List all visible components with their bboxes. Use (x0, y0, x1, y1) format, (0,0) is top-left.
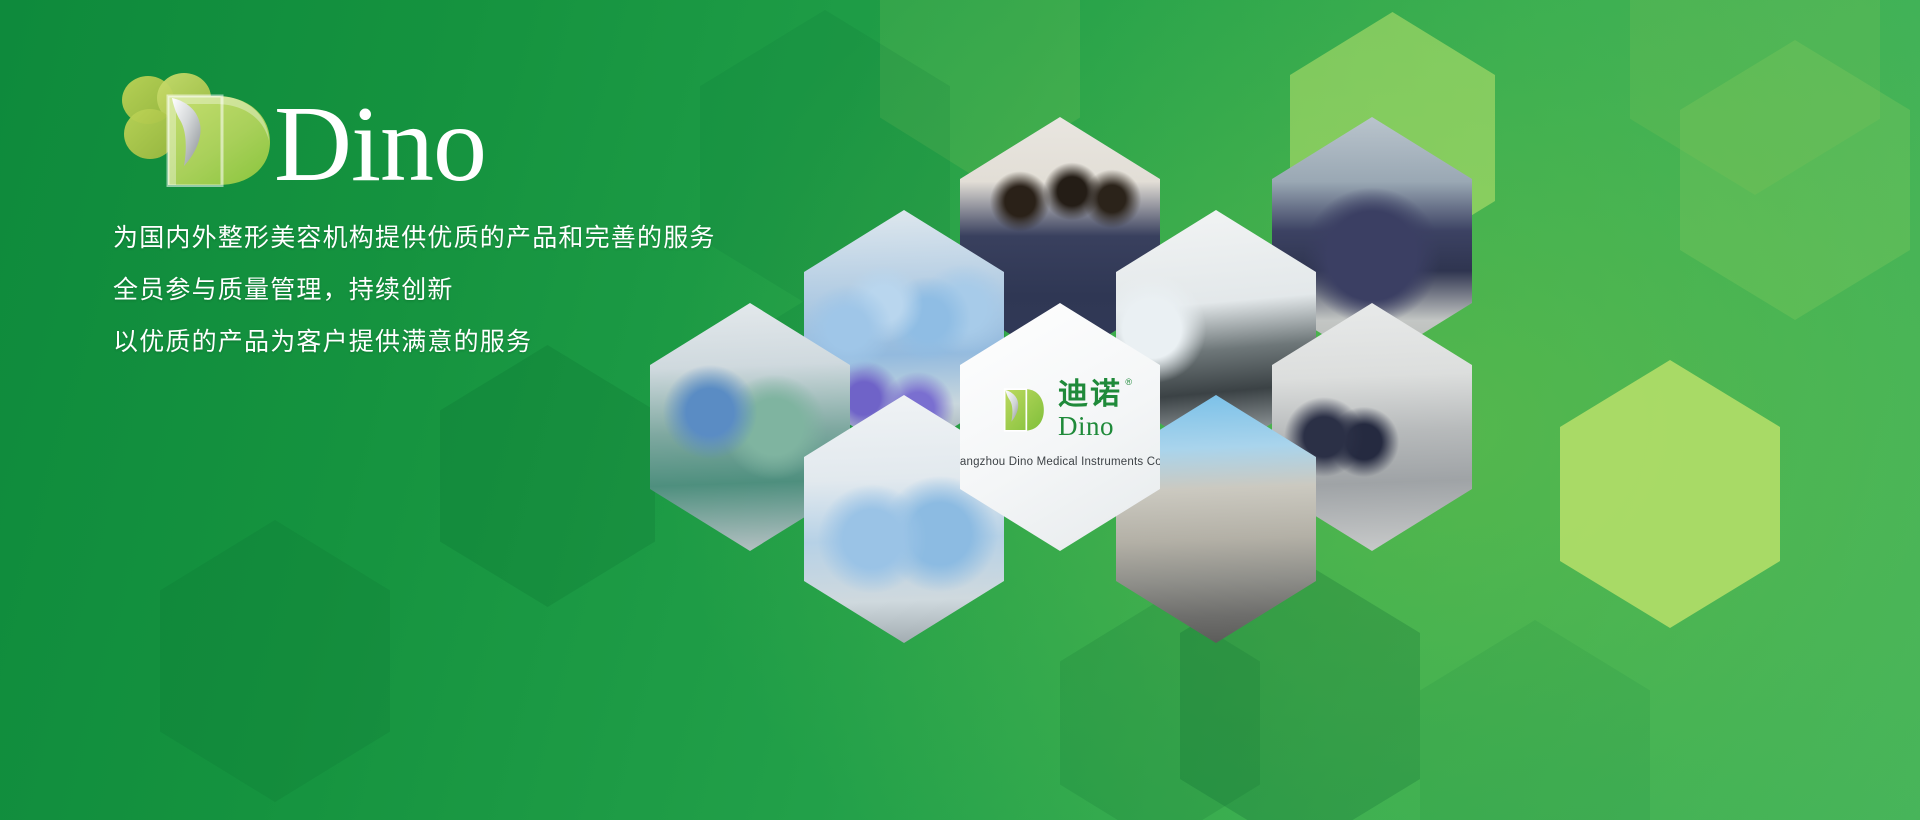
brand-logo-svg: Dino (88, 62, 518, 187)
center-logo-chinese: 迪诺 ® (1058, 380, 1122, 410)
registered-mark: ® (1125, 378, 1134, 387)
hero-banner: Dino 为国内外整形美容机构提供优质的产品和完善的服务 全员参与质量管理，持续… (0, 0, 1920, 820)
center-logo-text: 迪诺 ® Dino (1058, 380, 1122, 440)
dino-leaf-logo-icon (998, 385, 1048, 435)
bg-hexagon-dark-1 (440, 345, 655, 607)
logo-wordmark: Dino (274, 85, 486, 187)
hexagon-photo-cluster: 迪诺 ® Dino Hangzhou Dino Medical Instrume… (650, 95, 1920, 695)
center-logo-mark: 迪诺 ® Dino (998, 380, 1122, 440)
center-logo-chinese-text: 迪诺 (1058, 378, 1122, 411)
logo-d-leaf-icon (168, 96, 270, 186)
bg-hexagon-dark-2 (160, 520, 390, 802)
center-logo-latin: Dino (1058, 413, 1114, 440)
center-logo-company-name: Hangzhou Dino Medical Instruments Co.. (951, 456, 1168, 468)
brand-logo[interactable]: Dino (88, 62, 518, 187)
